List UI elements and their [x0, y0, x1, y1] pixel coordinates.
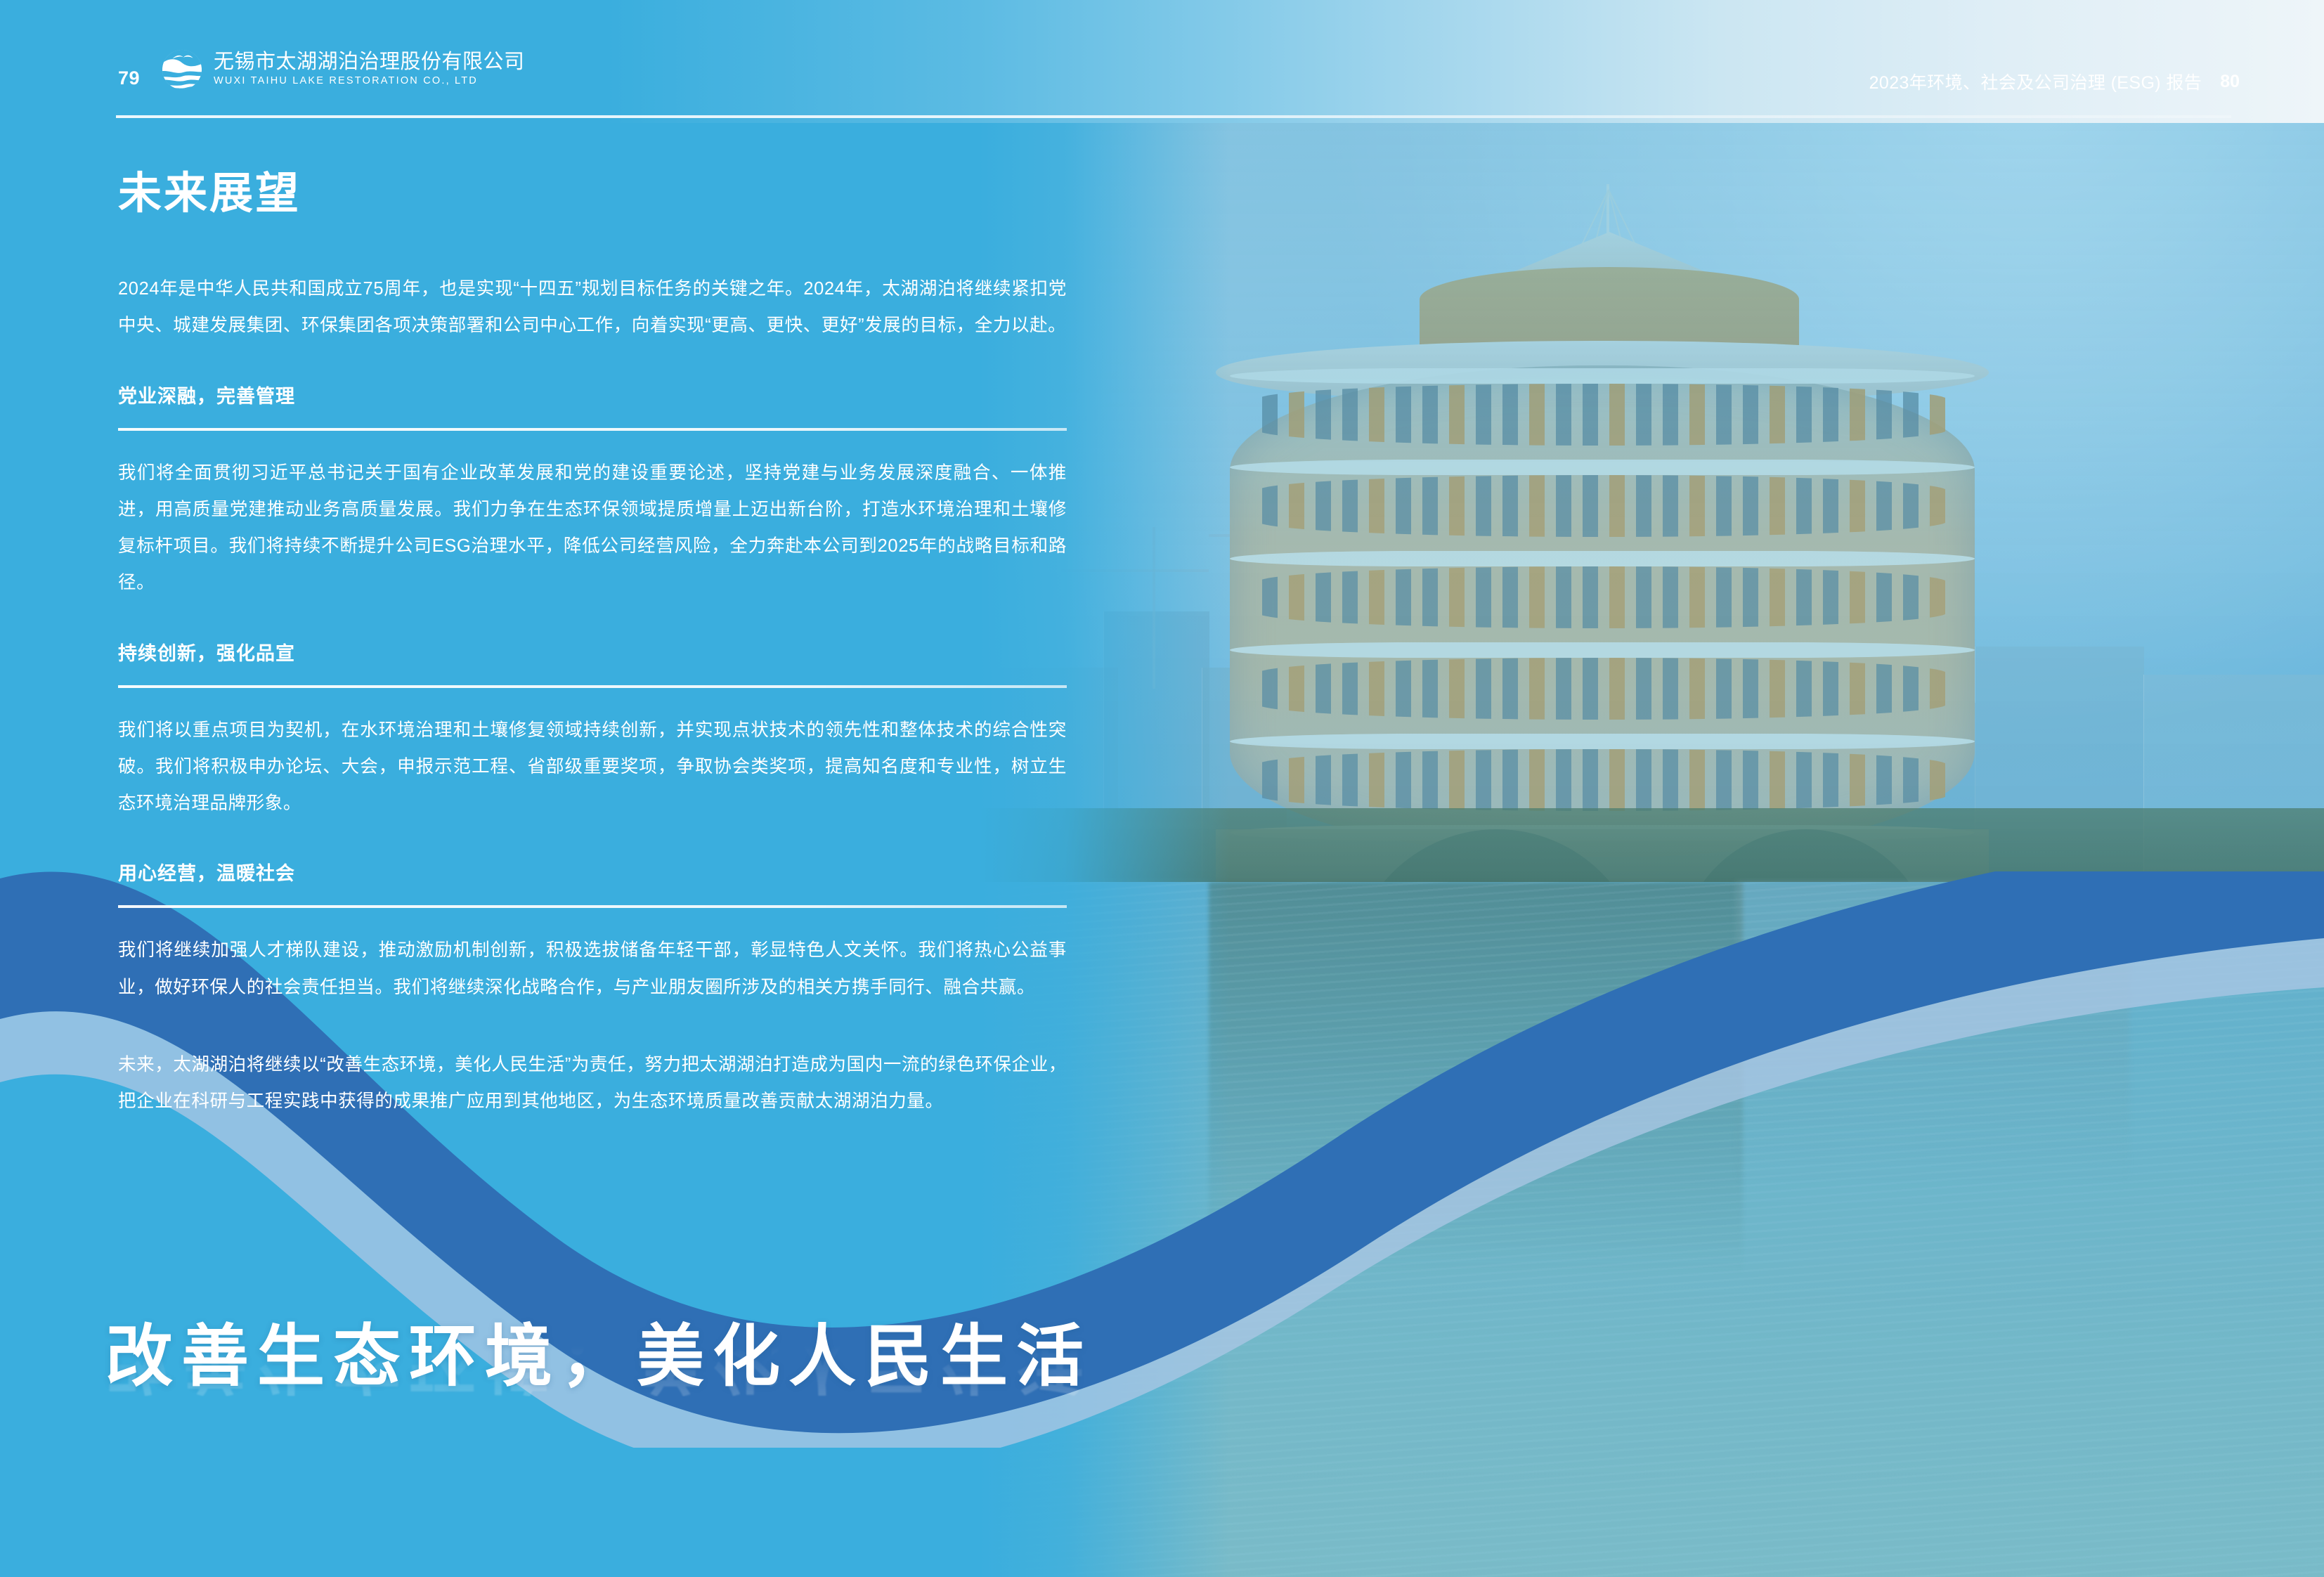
header-right-group: 2023年环境、社会及公司治理 (ESG) 报告 80: [1869, 69, 2240, 94]
lake-sun-bird-logo-icon: [160, 48, 204, 91]
section-body: 我们将全面贯彻习近平总书记关于国有企业改革发展和党的建设重要论述，坚持党建与业务…: [118, 455, 1067, 602]
logo-name-cn: 无锡市太湖湖泊治理股份有限公司: [214, 51, 525, 73]
section-heading: 持续创新，强化品宣: [118, 638, 1067, 666]
section-operations-society: 用心经营，温暖社会 我们将继续加强人才梯队建设，推动激励机制创新，积极选拔储备年…: [118, 858, 1067, 1006]
closing-paragraph: 未来，太湖湖泊将继续以“改善生态环境，美化人民生活”为责任，努力把太湖湖泊打造成…: [118, 1046, 1067, 1120]
section-party-management: 党业深融，完善管理 我们将全面贯彻习近平总书记关于国有企业改革发展和党的建设重要…: [118, 381, 1067, 602]
section-divider: [118, 685, 1067, 688]
slogan-block: 改善生态环境，美化人民生活 改善生态环境，美化人民生活: [105, 1321, 1092, 1467]
page-title: 未来展望: [118, 172, 1067, 216]
taihu-lake-headquarters-building-photo: [977, 0, 2324, 1577]
report-title: 2023年环境、社会及公司治理 (ESG) 报告: [1869, 69, 2202, 94]
page-number-right: 80: [2220, 72, 2240, 92]
intro-paragraph: 2024年是中华人民共和国成立75周年，也是实现“十四五”规划目标任务的关键之年…: [118, 271, 1067, 344]
esg-report-page: 79 无锡市太湖湖泊治理股份有限公司 WUXI TAIHU LAK: [0, 0, 2324, 1577]
logo-name-en: WUXI TAIHU LAKE RESTORATION CO., LTD: [214, 75, 525, 87]
section-heading: 党业深融，完善管理: [118, 381, 1067, 408]
section-body: 我们将以重点项目为契机，在水环境治理和土壤修复领域持续创新，并实现点状技术的领先…: [118, 712, 1067, 822]
section-body: 我们将继续加强人才梯队建设，推动激励机制创新，积极选拔储备年轻干部，彰显特色人文…: [118, 932, 1067, 1006]
section-divider: [118, 905, 1067, 908]
slogan-reflection: 改善生态环境，美化人民生活: [105, 1325, 1092, 1396]
header-divider: [116, 115, 2231, 118]
page-number-left: 79: [118, 67, 140, 89]
page-header: 79 无锡市太湖湖泊治理股份有限公司 WUXI TAIHU LAK: [0, 0, 2324, 123]
section-divider: [118, 428, 1067, 431]
company-logo[interactable]: 无锡市太湖湖泊治理股份有限公司 WUXI TAIHU LAKE RESTORAT…: [160, 48, 525, 91]
section-heading: 用心经营，温暖社会: [118, 858, 1067, 885]
page-content: 未来展望 2024年是中华人民共和国成立75周年，也是实现“十四五”规划目标任务…: [118, 172, 1067, 1150]
section-innovation-branding: 持续创新，强化品宣 我们将以重点项目为契机，在水环境治理和土壤修复领域持续创新，…: [118, 638, 1067, 822]
